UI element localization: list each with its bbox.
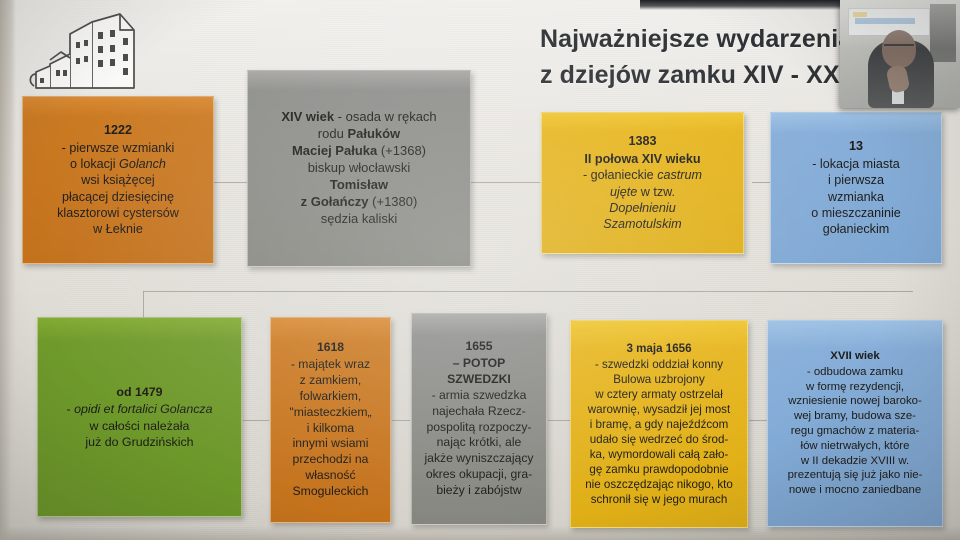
event-box-3-maja-1656[interactable]: 3 maja 1656 - szwedzki oddział konnyBulo… (570, 320, 748, 528)
castle-sketch-logo (28, 4, 188, 90)
event-box-1222[interactable]: 1222 - pierwsze wzmiankio lokacji Golanc… (22, 96, 214, 264)
event-box-1655-heading: 1655 (465, 339, 492, 355)
event-box-1655[interactable]: 1655 – POTOPSZWEDZKI- armia szwedzkanaje… (411, 313, 547, 525)
connector-xiv-to-1383 (470, 182, 540, 183)
event-box-1222-body: - pierwsze wzmiankio lokacji Golanchwsi … (57, 140, 179, 238)
event-box-xiv-wiek[interactable]: XIV wiek - osada w rękachrodu PałukówMac… (247, 70, 471, 267)
event-box-13xx-body: - lokacja miastai pierwszawzmiankao mies… (811, 156, 901, 238)
event-box-1618[interactable]: 1618 - majątek wrazz zamkiem,folwarkiem,… (270, 317, 391, 523)
event-box-xvii-body: - odbudowa zamkuw formę rezydencji,wznie… (788, 365, 923, 498)
connector-1222-to-xiv (213, 182, 247, 183)
connector-wrap-top (143, 291, 913, 292)
event-box-1383-body: II połowa XIV wieku- gołanieckie castrum… (583, 151, 702, 233)
connector-1383-to-13xx (752, 182, 772, 183)
event-box-1222-heading: 1222 (104, 122, 132, 138)
event-box-1383[interactable]: 1383 II połowa XIV wieku- gołanieckie ca… (541, 112, 744, 254)
presentation-screen-photo: Najważniejsze wydarzenia z dziejów zamku… (0, 0, 960, 540)
event-box-xiv-wiek-body: XIV wiek - osada w rękachrodu PałukówMac… (281, 109, 436, 227)
event-box-xvii-heading: XVII wiek (830, 349, 879, 364)
connector-1655-to-1656 (548, 420, 570, 421)
event-box-1618-heading: 1618 (317, 340, 344, 356)
screen-left-edge (0, 0, 16, 540)
connector-1656-to-xvii (749, 420, 767, 421)
event-box-1655-body: – POTOPSZWEDZKI- armia szwedzkanajechała… (424, 356, 533, 499)
event-box-od-1479-heading: od 1479 (116, 384, 162, 400)
event-box-13xx-heading: 13 (849, 138, 863, 154)
event-box-13xx-lokacja[interactable]: 13 - lokacja miastai pierwszawzmiankao m… (770, 112, 942, 264)
screen-bottom-edge (0, 526, 960, 540)
slide-title-line-1: Najważniejsze wydarzenia (540, 25, 852, 53)
connector-1479-to-1618 (243, 420, 269, 421)
event-box-1656-heading: 3 maja 1656 (626, 341, 691, 356)
event-box-1656-body: - szwedzki oddział konnyBulowa uzbrojony… (585, 357, 733, 508)
event-box-xvii-wiek[interactable]: XVII wiek - odbudowa zamkuw formę rezyde… (767, 320, 943, 527)
connector-1618-to-1655 (392, 420, 410, 421)
event-box-od-1479[interactable]: od 1479 - opidi et fortalici Golanczaw c… (37, 317, 242, 517)
connector-wrap-down (143, 291, 144, 319)
event-box-od-1479-body: - opidi et fortalici Golanczaw całości n… (66, 401, 212, 449)
webcam-overlay[interactable] (840, 0, 960, 108)
event-box-1383-heading: 1383 (628, 133, 656, 149)
event-box-1618-body: - majątek wrazz zamkiem,folwarkiem,"mias… (289, 357, 371, 500)
webcam-glare-overlay (840, 0, 960, 108)
